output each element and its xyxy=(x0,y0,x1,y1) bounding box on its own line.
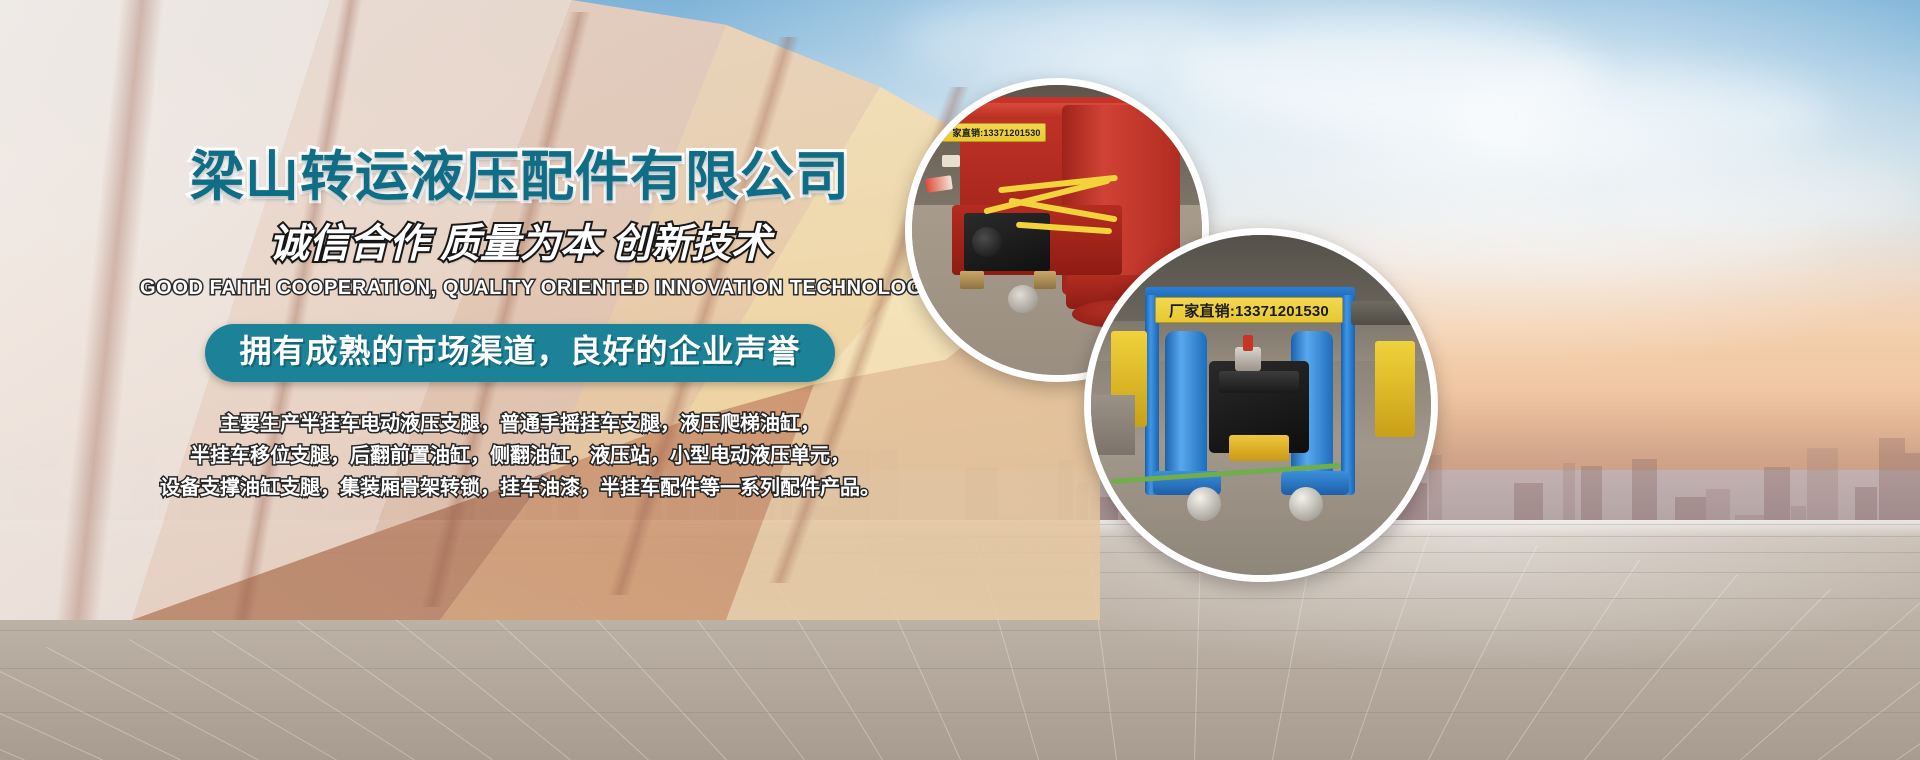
banner-subtitle-en: GOOD FAITH COOPERATION, QUALITY ORIENTED… xyxy=(140,278,900,298)
photo-detail xyxy=(1008,285,1038,313)
product-description: 主要生产半挂车电动液压支腿，普通手摇挂车支腿，液压爬梯油缸， 半挂车移位支腿，后… xyxy=(140,408,900,505)
photo-detail xyxy=(942,155,960,167)
cloud-decor xyxy=(1450,70,1830,160)
plaza-tile-line xyxy=(0,712,1920,713)
banner-subtitle-cn: 诚信合作 质量为本 创新技术 xyxy=(140,224,900,264)
photo-detail xyxy=(1145,295,1159,495)
photo-detail xyxy=(1351,301,1421,325)
photo-detail xyxy=(1165,331,1207,481)
company-title-text: 梁山转运液压配件有限公司 xyxy=(190,147,850,207)
photo-detail xyxy=(1229,435,1289,461)
photo-blue-machine-image xyxy=(1091,235,1431,575)
plaza-tile-line xyxy=(0,668,1920,669)
description-line: 设备支撑油缸支腿，集装厢骨架转锁，挂车油漆，半挂车配件等一系列配件产品。 xyxy=(140,472,900,504)
photo-detail xyxy=(1289,487,1323,521)
photo-detail xyxy=(972,227,1002,257)
company-title: 梁山转运液压配件有限公司 xyxy=(140,150,900,204)
photo-detail xyxy=(1034,271,1056,289)
phone-plate-blue: 厂家直销:13371201530 xyxy=(1155,297,1343,323)
description-line: 半挂车移位支腿，后翻前置油缸，侧翻油缸，液压站，小型电动液压单元， xyxy=(140,440,900,472)
banner-text-block: 梁山转运液压配件有限公司 诚信合作 质量为本 创新技术 GOOD FAITH C… xyxy=(140,150,900,505)
photo-detail xyxy=(1341,295,1355,495)
plaza-tile-line xyxy=(0,630,1920,631)
description-line: 主要生产半挂车电动液压支腿，普通手摇挂车支腿，液压爬梯油缸， xyxy=(140,408,900,440)
slogan-pill: 拥有成熟的市场渠道，良好的企业声誉 xyxy=(205,324,834,382)
photo-detail xyxy=(1375,341,1415,437)
photo-detail xyxy=(1219,371,1299,393)
hero-banner: 梁山转运液压配件有限公司 诚信合作 质量为本 创新技术 GOOD FAITH C… xyxy=(0,0,1920,760)
photo-detail xyxy=(960,271,984,289)
phone-plate-red: 厂家直销:13371201530 xyxy=(938,123,1046,142)
photo-detail xyxy=(1091,395,1135,455)
photo-blue-machine: 厂家直销:13371201530 xyxy=(1084,228,1438,582)
photo-detail xyxy=(1243,335,1253,351)
photo-detail xyxy=(1187,487,1221,521)
slogan-pill-text: 拥有成熟的市场渠道，良好的企业声誉 xyxy=(239,335,800,369)
